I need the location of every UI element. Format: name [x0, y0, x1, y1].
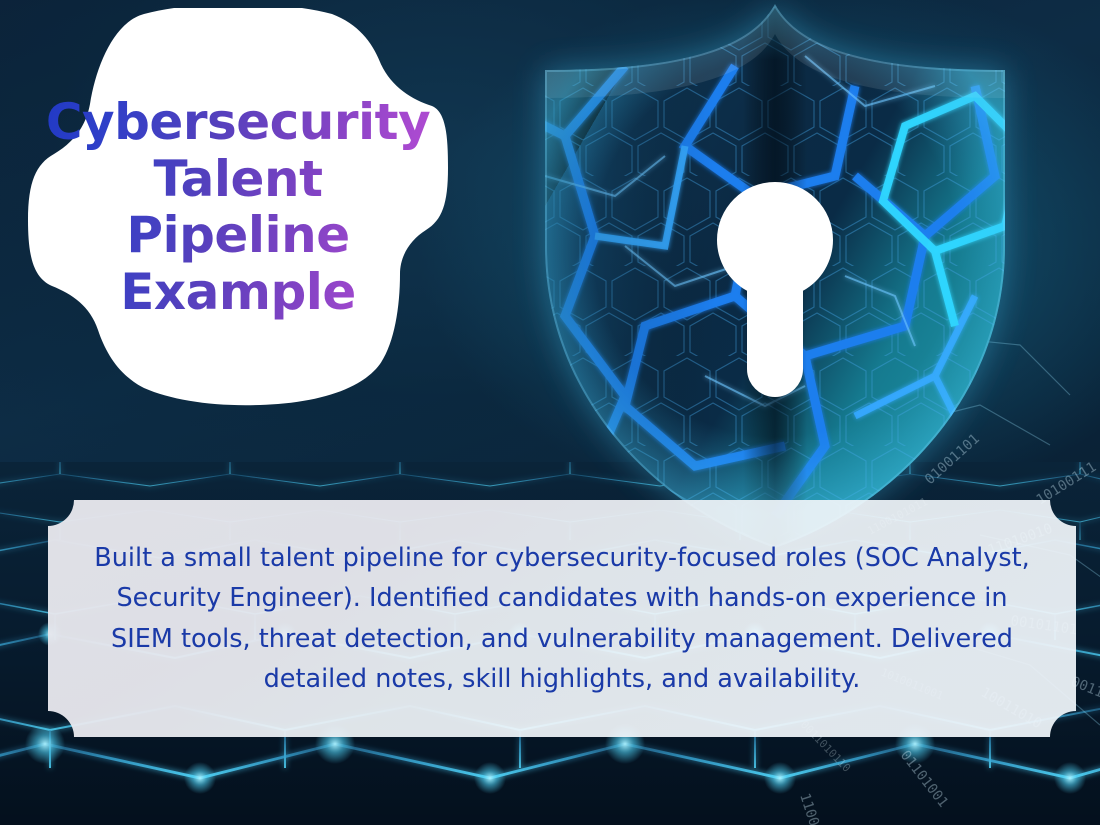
page-title: Cybersecurity Talent Pipeline Example — [28, 8, 448, 406]
svg-text:01101001: 01101001 — [897, 748, 951, 811]
title-line-3: Pipeline — [126, 207, 349, 264]
security-shield — [505, 0, 1045, 556]
poster-canvas: 10110010 01001101 11010010 00101101 1001… — [0, 0, 1100, 825]
title-line-1: Cybersecurity — [46, 94, 430, 151]
title-line-4: Example — [120, 264, 356, 321]
description-panel: Built a small talent pipeline for cybers… — [48, 500, 1076, 737]
title-line-2: Talent — [154, 151, 323, 208]
description-text: Built a small talent pipeline for cybers… — [48, 500, 1076, 737]
